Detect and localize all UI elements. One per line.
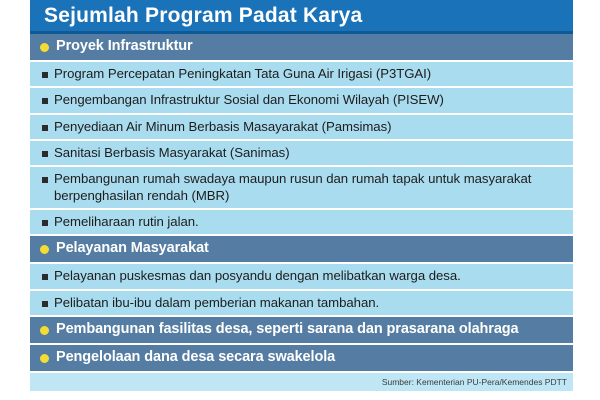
source-bar: Sumber: Kementerian PU-Pera/Kemendes PDT… xyxy=(30,373,573,391)
bullet-square-icon xyxy=(42,151,48,157)
bullet-square-icon xyxy=(42,72,48,78)
list-item: Penyediaan Air Minum Berbasis Masayaraka… xyxy=(30,115,573,141)
bullet-square-icon xyxy=(42,125,48,131)
program-list: Proyek InfrastrukturProgram Percepatan P… xyxy=(30,34,573,373)
infographic-panel: Sejumlah Program Padat Karya Proyek Infr… xyxy=(30,0,573,400)
list-item-label: Penyediaan Air Minum Berbasis Masayaraka… xyxy=(54,119,391,135)
list-item: Pelayanan puskesmas dan posyandu dengan … xyxy=(30,264,573,290)
section-header: Proyek Infrastruktur xyxy=(30,34,573,62)
title-bar: Sejumlah Program Padat Karya xyxy=(30,0,573,34)
list-item-label: Pelayanan puskesmas dan posyandu dengan … xyxy=(54,268,461,284)
list-item: Pembangunan rumah swadaya maupun rusun d… xyxy=(30,167,573,210)
list-item: Pengembangan Infrastruktur Sosial dan Ek… xyxy=(30,88,573,114)
bullet-dot-icon xyxy=(40,326,49,335)
list-item-label: Sanitasi Berbasis Masyarakat (Sanimas) xyxy=(54,145,290,161)
section-header-label: Pembangunan fasilitas desa, seperti sara… xyxy=(56,321,519,338)
bullet-square-icon xyxy=(42,177,48,183)
bullet-dot-icon xyxy=(40,43,49,52)
page-title: Sejumlah Program Padat Karya xyxy=(44,5,362,26)
bullet-square-icon xyxy=(42,274,48,280)
source-credit: Sumber: Kementerian PU-Pera/Kemendes PDT… xyxy=(382,378,567,387)
list-item: Pemeliharaan rutin jalan. xyxy=(30,210,573,236)
bullet-dot-icon xyxy=(40,245,49,254)
section-header-label: Pelayanan Masyarakat xyxy=(56,240,209,257)
section-header-label: Pengelolaan dana desa secara swakelola xyxy=(56,349,335,366)
list-item: Sanitasi Berbasis Masyarakat (Sanimas) xyxy=(30,141,573,167)
section-header: Pembangunan fasilitas desa, seperti sara… xyxy=(30,317,573,345)
bullet-square-icon xyxy=(42,220,48,226)
section-header: Pelayanan Masyarakat xyxy=(30,236,573,264)
list-item: Pelibatan ibu-ibu dalam pemberian makana… xyxy=(30,291,573,317)
list-item-label: Pemeliharaan rutin jalan. xyxy=(54,214,199,230)
list-item-label: Pembangunan rumah swadaya maupun rusun d… xyxy=(54,171,565,204)
bullet-dot-icon xyxy=(40,354,49,363)
section-header-label: Proyek Infrastruktur xyxy=(56,38,193,55)
bullet-square-icon xyxy=(42,301,48,307)
list-item: Program Percepatan Peningkatan Tata Guna… xyxy=(30,62,573,88)
list-item-label: Pengembangan Infrastruktur Sosial dan Ek… xyxy=(54,92,444,108)
section-header: Pengelolaan dana desa secara swakelola xyxy=(30,345,573,373)
bullet-square-icon xyxy=(42,98,48,104)
list-item-label: Pelibatan ibu-ibu dalam pemberian makana… xyxy=(54,295,379,311)
list-item-label: Program Percepatan Peningkatan Tata Guna… xyxy=(54,66,431,82)
